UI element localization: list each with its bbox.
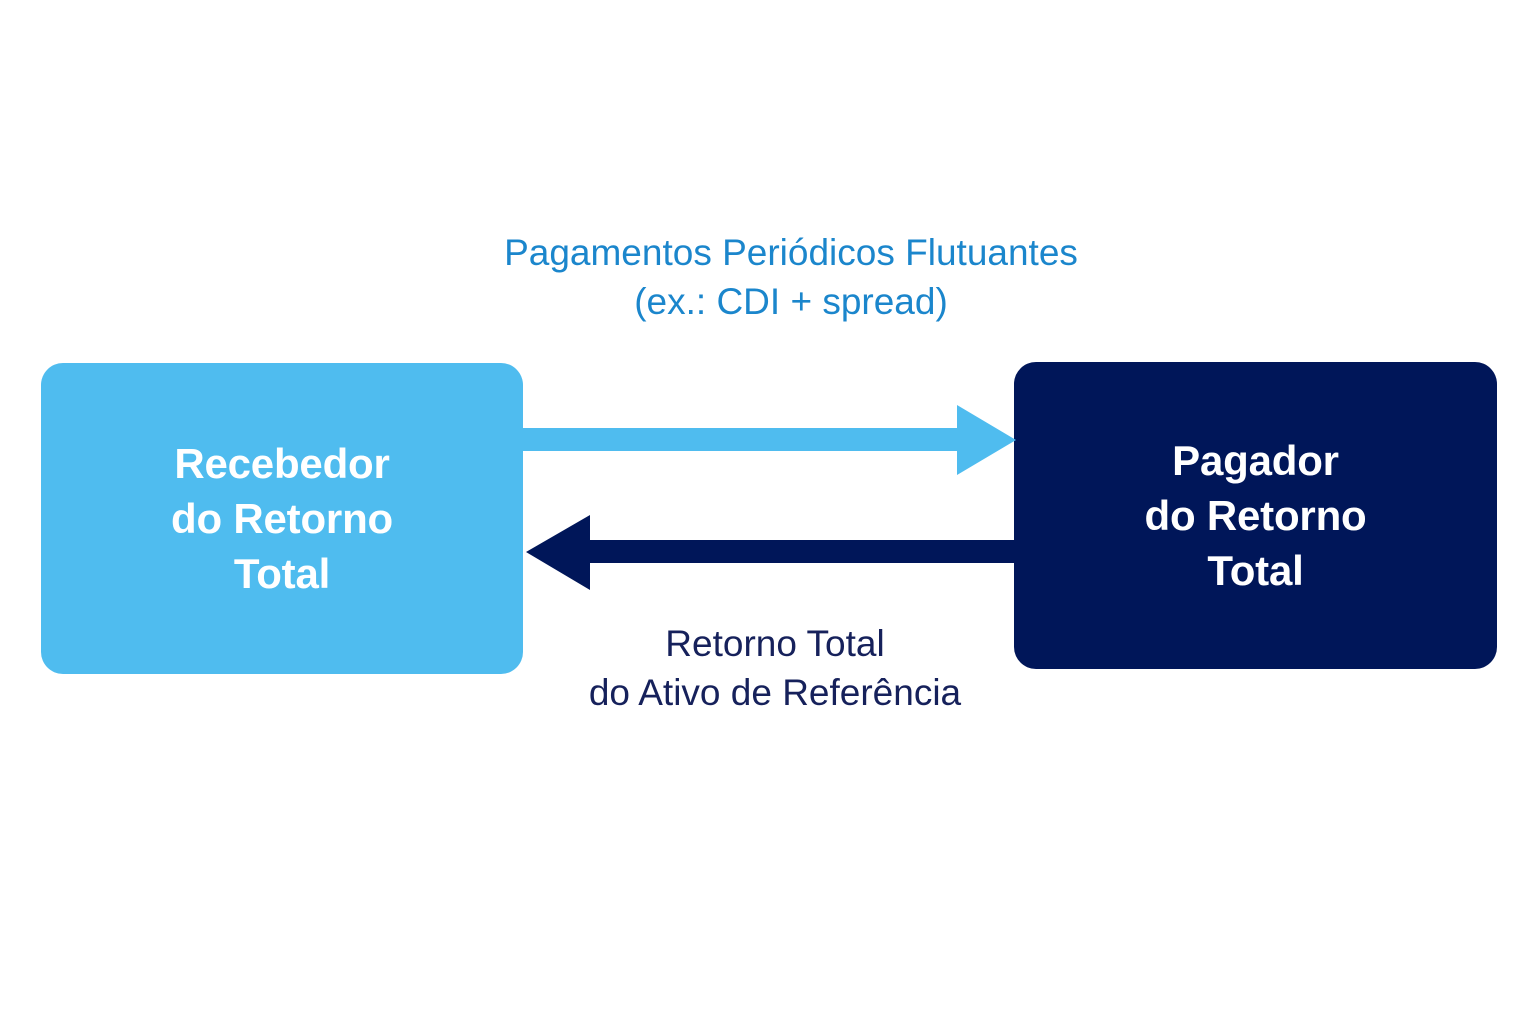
flow-label-bottom: Retorno Total do Ativo de Referência bbox=[352, 619, 1198, 717]
arrow-left-icon bbox=[526, 515, 1016, 590]
node-receiver-line-3: Total bbox=[234, 546, 330, 601]
node-receiver-line-1: Recebedor bbox=[174, 436, 389, 491]
flow-label-top: Pagamentos Periódicos Flutuantes (ex.: C… bbox=[368, 228, 1214, 326]
diagram-canvas: Recebedor do Retorno Total Pagador do Re… bbox=[0, 0, 1536, 1024]
flow-label-top-line-2: (ex.: CDI + spread) bbox=[368, 277, 1214, 326]
node-payer-line-1: Pagador bbox=[1172, 433, 1339, 488]
flow-label-bottom-line-1: Retorno Total bbox=[352, 619, 1198, 668]
flow-label-top-line-1: Pagamentos Periódicos Flutuantes bbox=[368, 228, 1214, 277]
node-receiver-line-2: do Retorno bbox=[171, 491, 393, 546]
flow-label-bottom-line-2: do Ativo de Referência bbox=[352, 668, 1198, 717]
node-payer-line-3: Total bbox=[1207, 543, 1303, 598]
arrow-right-icon bbox=[522, 405, 1016, 475]
node-payer-line-2: do Retorno bbox=[1145, 488, 1367, 543]
